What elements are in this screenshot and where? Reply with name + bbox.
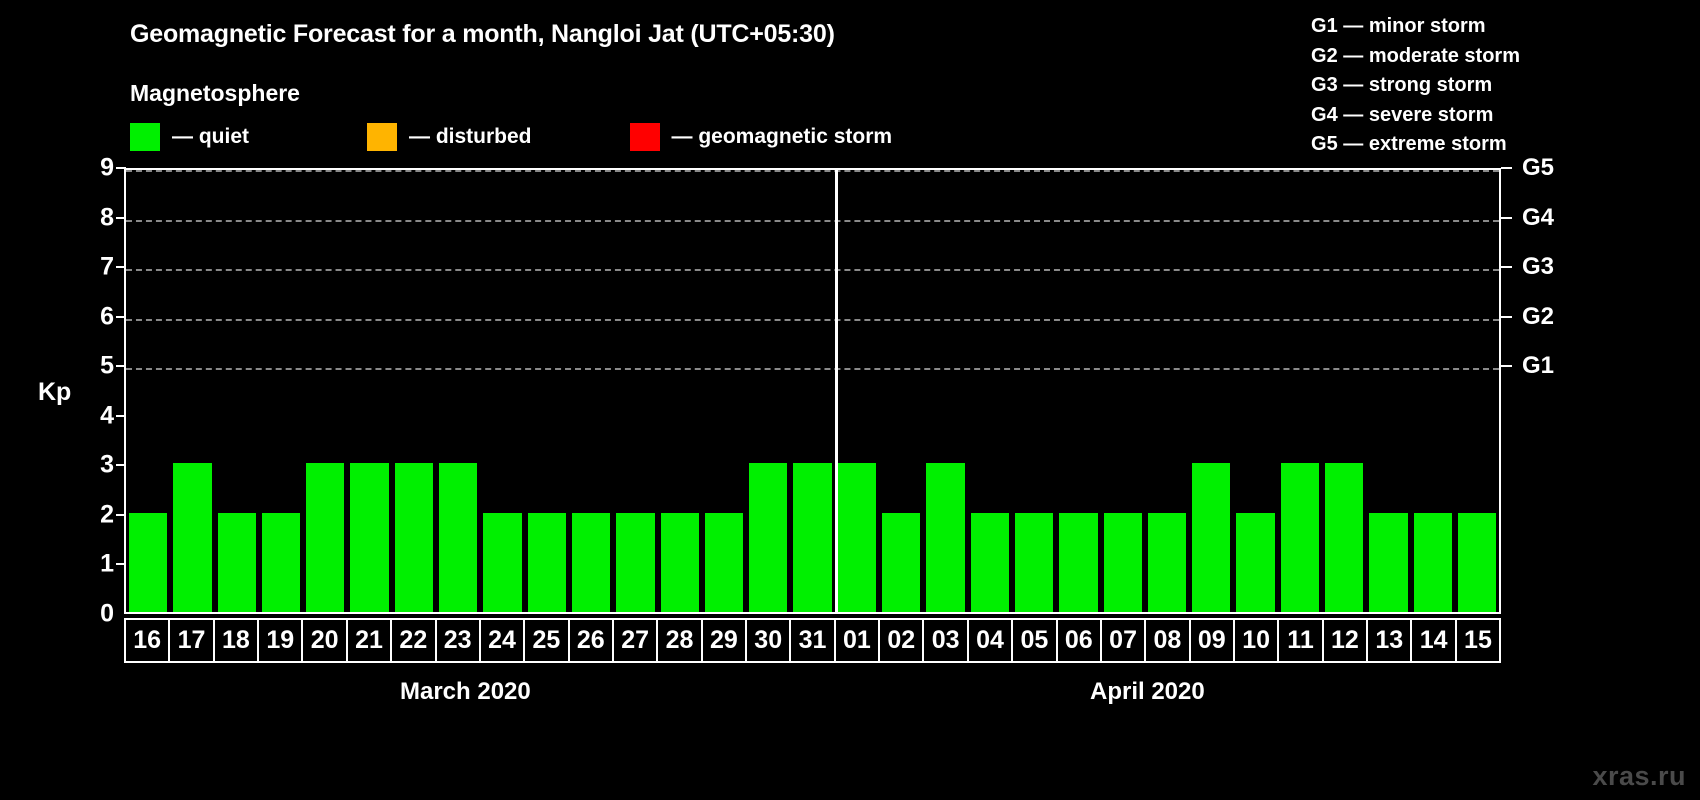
g-axis-labels: G1G2G3G4G5 (1512, 168, 1592, 614)
bar-01[interactable] (838, 463, 876, 612)
bar-series (126, 170, 1499, 612)
bar-12[interactable] (1325, 463, 1363, 612)
day-label-26[interactable]: 26 (570, 620, 614, 661)
y-tick-label-2: 2 (100, 502, 114, 527)
legend-label-disturbed: — disturbed (409, 125, 532, 149)
bar-17[interactable] (173, 463, 211, 612)
month-label-march: March 2020 (400, 678, 531, 706)
day-label-18[interactable]: 18 (215, 620, 259, 661)
bar-cell[interactable] (1101, 170, 1145, 612)
legend-label-quiet: — quiet (172, 125, 249, 149)
y-tick-label-4: 4 (100, 403, 114, 428)
bar-22[interactable] (395, 463, 433, 612)
y-tick-4 (116, 415, 126, 417)
g-scale-legend: G1 — minor storm G2 — moderate storm G3 … (1311, 12, 1520, 160)
day-label-17[interactable]: 17 (170, 620, 214, 661)
day-label-24[interactable]: 24 (481, 620, 525, 661)
bar-cell[interactable] (303, 170, 347, 612)
bar-cell[interactable] (746, 170, 790, 612)
bar-cell[interactable] (835, 170, 879, 612)
bar-cell[interactable] (1411, 170, 1455, 612)
day-label-07[interactable]: 07 (1102, 620, 1146, 661)
day-label-22[interactable]: 22 (392, 620, 436, 661)
bar-cell[interactable] (1189, 170, 1233, 612)
day-label-31[interactable]: 31 (791, 620, 835, 661)
g-tick-g1 (1501, 365, 1512, 367)
bar-24[interactable] (483, 513, 521, 612)
g-scale-row-g4: G4 — severe storm (1311, 101, 1520, 131)
y-axis-title: Kp (38, 378, 71, 407)
bar-14[interactable] (1414, 513, 1452, 612)
y-tick-label-7: 7 (100, 255, 114, 280)
g-tick-label-g3: G3 (1522, 255, 1554, 279)
g-tick-label-g2: G2 (1522, 305, 1554, 329)
plot-inner (126, 170, 1499, 612)
bar-cell[interactable] (259, 170, 303, 612)
g-tick-label-g4: G4 (1522, 206, 1554, 230)
bar-20[interactable] (306, 463, 344, 612)
legend-item-disturbed: — disturbed (367, 123, 532, 151)
g-scale-row-g2: G2 — moderate storm (1311, 42, 1520, 72)
bar-cell[interactable] (1056, 170, 1100, 612)
day-label-10[interactable]: 10 (1235, 620, 1279, 661)
bar-02[interactable] (882, 513, 920, 612)
day-label-23[interactable]: 23 (437, 620, 481, 661)
bar-16[interactable] (129, 513, 167, 612)
day-label-04[interactable]: 04 (969, 620, 1013, 661)
day-label-09[interactable]: 09 (1191, 620, 1235, 661)
g-tick-label-g1: G1 (1522, 354, 1554, 378)
day-label-30[interactable]: 30 (747, 620, 791, 661)
bar-21[interactable] (350, 463, 388, 612)
y-tick-1 (116, 563, 126, 565)
bar-04[interactable] (971, 513, 1009, 612)
bar-31[interactable] (793, 463, 831, 612)
y-tick-2 (116, 514, 126, 516)
day-label-13[interactable]: 13 (1368, 620, 1412, 661)
g-tick-g5 (1501, 167, 1512, 169)
bar-11[interactable] (1281, 463, 1319, 612)
bar-cell[interactable] (1233, 170, 1277, 612)
y-tick-label-6: 6 (100, 304, 114, 329)
legend-swatch-quiet-icon (130, 123, 160, 151)
day-label-19[interactable]: 19 (259, 620, 303, 661)
day-label-15[interactable]: 15 (1457, 620, 1499, 661)
day-label-27[interactable]: 27 (614, 620, 658, 661)
bar-07[interactable] (1104, 513, 1142, 612)
bar-19[interactable] (262, 513, 300, 612)
g-scale-row-g1: G1 — minor storm (1311, 12, 1520, 42)
y-tick-3 (116, 464, 126, 466)
bar-25[interactable] (528, 513, 566, 612)
bar-cell[interactable] (1455, 170, 1499, 612)
bar-cell[interactable] (790, 170, 834, 612)
bar-cell[interactable] (1366, 170, 1410, 612)
magnetosphere-legend: — quiet — disturbed — geomagnetic storm (130, 123, 892, 151)
day-label-03[interactable]: 03 (924, 620, 968, 661)
legend-item-quiet: — quiet (130, 123, 249, 151)
legend-swatch-disturbed-icon (367, 123, 397, 151)
bar-cell[interactable] (436, 170, 480, 612)
bar-cell[interactable] (126, 170, 170, 612)
legend-swatch-storm-icon (630, 123, 660, 151)
bar-cell[interactable] (569, 170, 613, 612)
watermark: xras.ru (1592, 761, 1686, 792)
day-label-29[interactable]: 29 (703, 620, 747, 661)
bar-cell[interactable] (347, 170, 391, 612)
geomagnetic-forecast-chart: Geomagnetic Forecast for a month, Nanglo… (0, 0, 1700, 800)
y-tick-label-3: 3 (100, 453, 114, 478)
bar-cell[interactable] (923, 170, 967, 612)
bar-27[interactable] (616, 513, 654, 612)
bar-18[interactable] (218, 513, 256, 612)
y-tick-8 (116, 217, 126, 219)
bar-cell[interactable] (1012, 170, 1056, 612)
bar-29[interactable] (705, 513, 743, 612)
bar-28[interactable] (661, 513, 699, 612)
g-tick-g3 (1501, 266, 1512, 268)
day-label-20[interactable]: 20 (303, 620, 347, 661)
bar-cell[interactable] (879, 170, 923, 612)
y-tick-7 (116, 266, 126, 268)
bar-cell[interactable] (525, 170, 569, 612)
y-tick-label-5: 5 (100, 354, 114, 379)
day-label-02[interactable]: 02 (880, 620, 924, 661)
day-label-12[interactable]: 12 (1324, 620, 1368, 661)
plot-area (124, 168, 1501, 614)
g-tick-g2 (1501, 316, 1512, 318)
g-tick-label-g5: G5 (1522, 156, 1554, 180)
month-label-april: April 2020 (1090, 678, 1205, 706)
day-label-28[interactable]: 28 (658, 620, 702, 661)
bar-cell[interactable] (1322, 170, 1366, 612)
month-divider (835, 170, 838, 612)
magnetosphere-label: Magnetosphere (130, 80, 300, 107)
day-label-11[interactable]: 11 (1279, 620, 1323, 661)
day-label-08[interactable]: 08 (1146, 620, 1190, 661)
bar-cell[interactable] (480, 170, 524, 612)
bar-13[interactable] (1369, 513, 1407, 612)
bar-10[interactable] (1236, 513, 1274, 612)
y-tick-5 (116, 365, 126, 367)
day-label-05[interactable]: 05 (1013, 620, 1057, 661)
day-label-01[interactable]: 01 (836, 620, 880, 661)
day-label-21[interactable]: 21 (348, 620, 392, 661)
legend-label-storm: — geomagnetic storm (672, 125, 893, 149)
bar-03[interactable] (926, 463, 964, 612)
g-scale-row-g5: G5 — extreme storm (1311, 130, 1520, 160)
day-label-06[interactable]: 06 (1058, 620, 1102, 661)
y-tick-label-9: 9 (100, 156, 114, 181)
y-tick-label-1: 1 (100, 552, 114, 577)
bar-cell[interactable] (1145, 170, 1189, 612)
bar-cell[interactable] (968, 170, 1012, 612)
legend-item-storm: — geomagnetic storm (630, 123, 893, 151)
bar-23[interactable] (439, 463, 477, 612)
bar-05[interactable] (1015, 513, 1053, 612)
bar-cell[interactable] (702, 170, 746, 612)
g-tick-g4 (1501, 217, 1512, 219)
bar-cell[interactable] (613, 170, 657, 612)
bar-15[interactable] (1458, 513, 1496, 612)
page-title: Geomagnetic Forecast for a month, Nanglo… (130, 20, 835, 49)
day-label-14[interactable]: 14 (1412, 620, 1456, 661)
bar-cell[interactable] (658, 170, 702, 612)
y-tick-9 (116, 167, 126, 169)
day-label-25[interactable]: 25 (525, 620, 569, 661)
bar-cell[interactable] (1278, 170, 1322, 612)
g-scale-row-g3: G3 — strong storm (1311, 71, 1520, 101)
bar-06[interactable] (1059, 513, 1097, 612)
bar-cell[interactable] (392, 170, 436, 612)
bar-30[interactable] (749, 463, 787, 612)
bar-26[interactable] (572, 513, 610, 612)
bar-cell[interactable] (215, 170, 259, 612)
bar-09[interactable] (1192, 463, 1230, 612)
day-labels-strip: 1617181920212223242526272829303101020304… (124, 618, 1501, 663)
y-tick-6 (116, 316, 126, 318)
day-label-16[interactable]: 16 (126, 620, 170, 661)
y-axis-labels: 0123456789 (70, 168, 114, 614)
bar-cell[interactable] (170, 170, 214, 612)
y-tick-label-8: 8 (100, 205, 114, 230)
bar-08[interactable] (1148, 513, 1186, 612)
y-tick-label-0: 0 (100, 602, 114, 627)
